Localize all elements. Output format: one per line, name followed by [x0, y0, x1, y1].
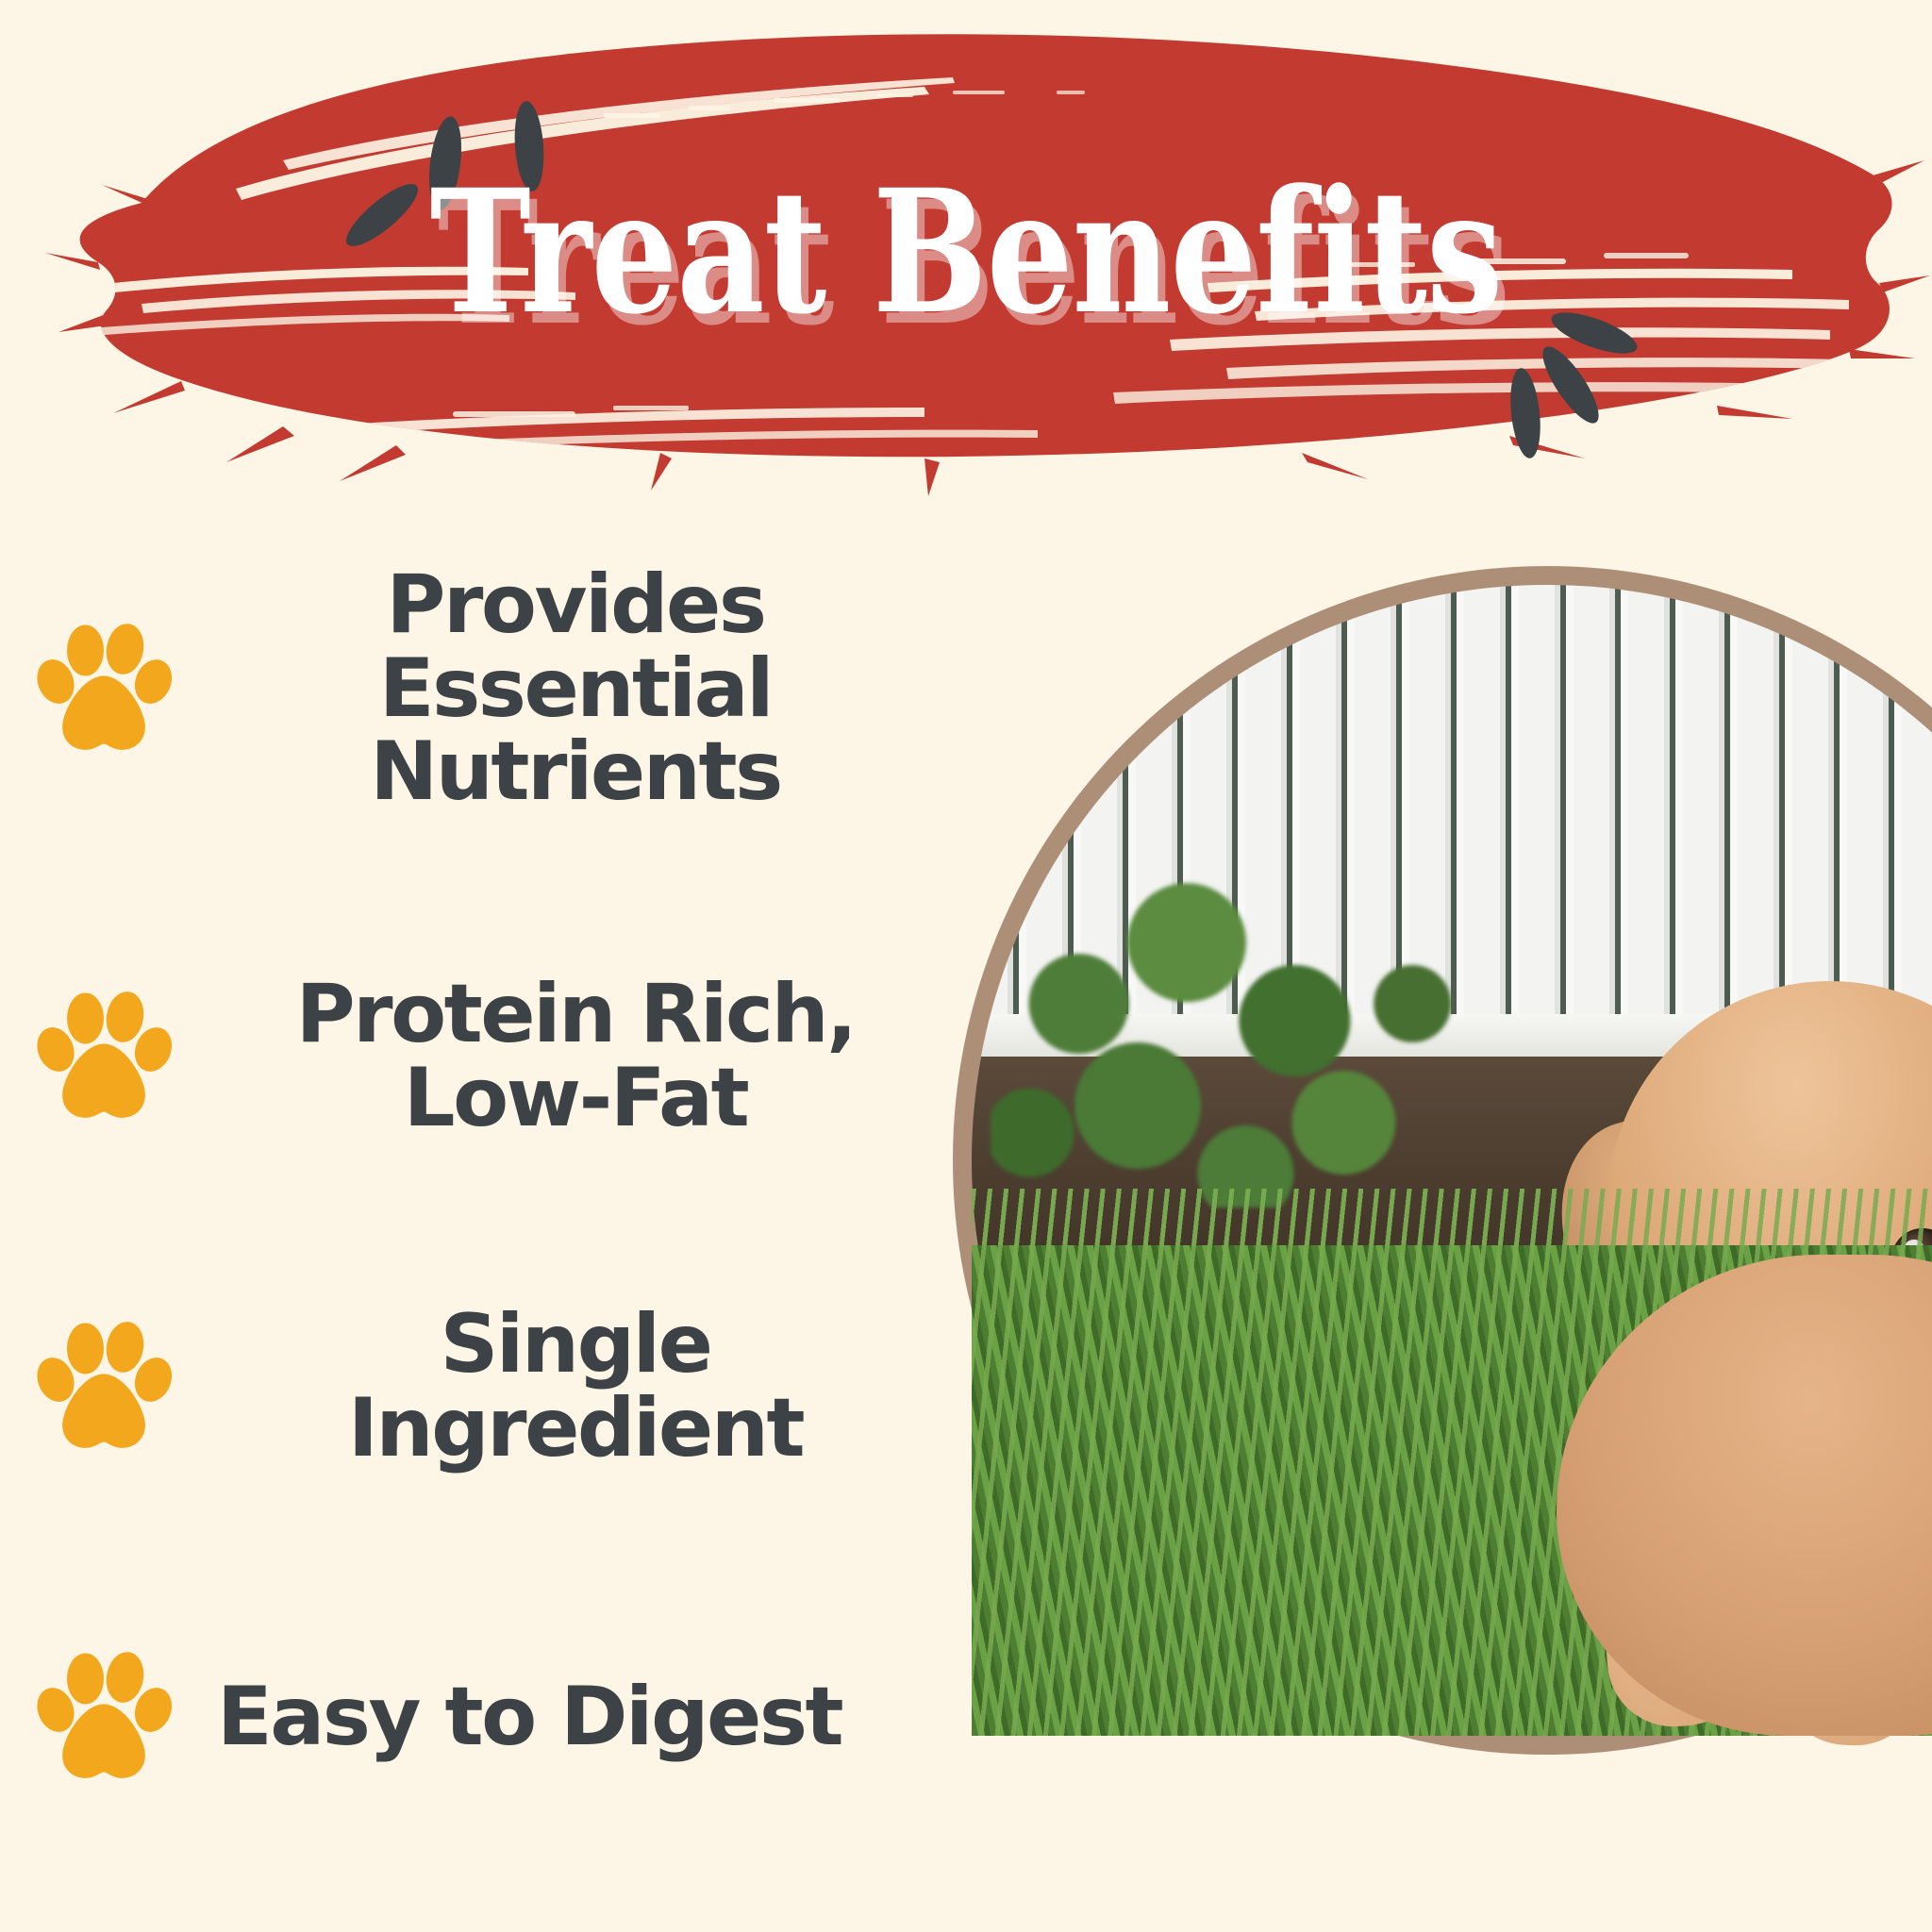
photo-scene-lower	[972, 1151, 1932, 1736]
paw-icon	[33, 1646, 175, 1788]
benefits-list: Provides Essential Nutrients Protein Ric…	[0, 566, 972, 1887]
benefit-item: Single Ingredient	[0, 1264, 972, 1509]
benefit-item: Easy to Digest	[0, 1623, 972, 1811]
benefit-item: Provides Essential Nutrients	[0, 566, 972, 811]
paw-icon-cell	[0, 986, 208, 1127]
benefit-label: Easy to Digest	[208, 1675, 972, 1759]
photo-lower-continuation	[972, 1151, 1932, 1932]
paw-icon	[33, 618, 175, 759]
benefit-label: Provides Essential Nutrients	[208, 563, 972, 814]
benefit-label: Single Ingredient	[208, 1303, 972, 1470]
paw-icon	[33, 986, 175, 1127]
paw-icon-cell	[0, 1646, 208, 1788]
poster-canvas: Treat Benefits Provides Essential Nutrie…	[0, 0, 1932, 1932]
page-title: Treat Benefits	[193, 168, 1739, 338]
product-photo: Tear for Treats!	[953, 566, 1932, 1932]
paw-icon-cell	[0, 1316, 208, 1457]
header-banner: Treat Benefits	[0, 0, 1932, 528]
paw-icon	[33, 1316, 175, 1457]
benefit-label: Protein Rich, Low-Fat	[208, 973, 972, 1140]
paw-icon-cell	[0, 618, 208, 759]
benefit-item: Protein Rich, Low-Fat	[0, 934, 972, 1179]
dog-lower	[1415, 1151, 1932, 1736]
